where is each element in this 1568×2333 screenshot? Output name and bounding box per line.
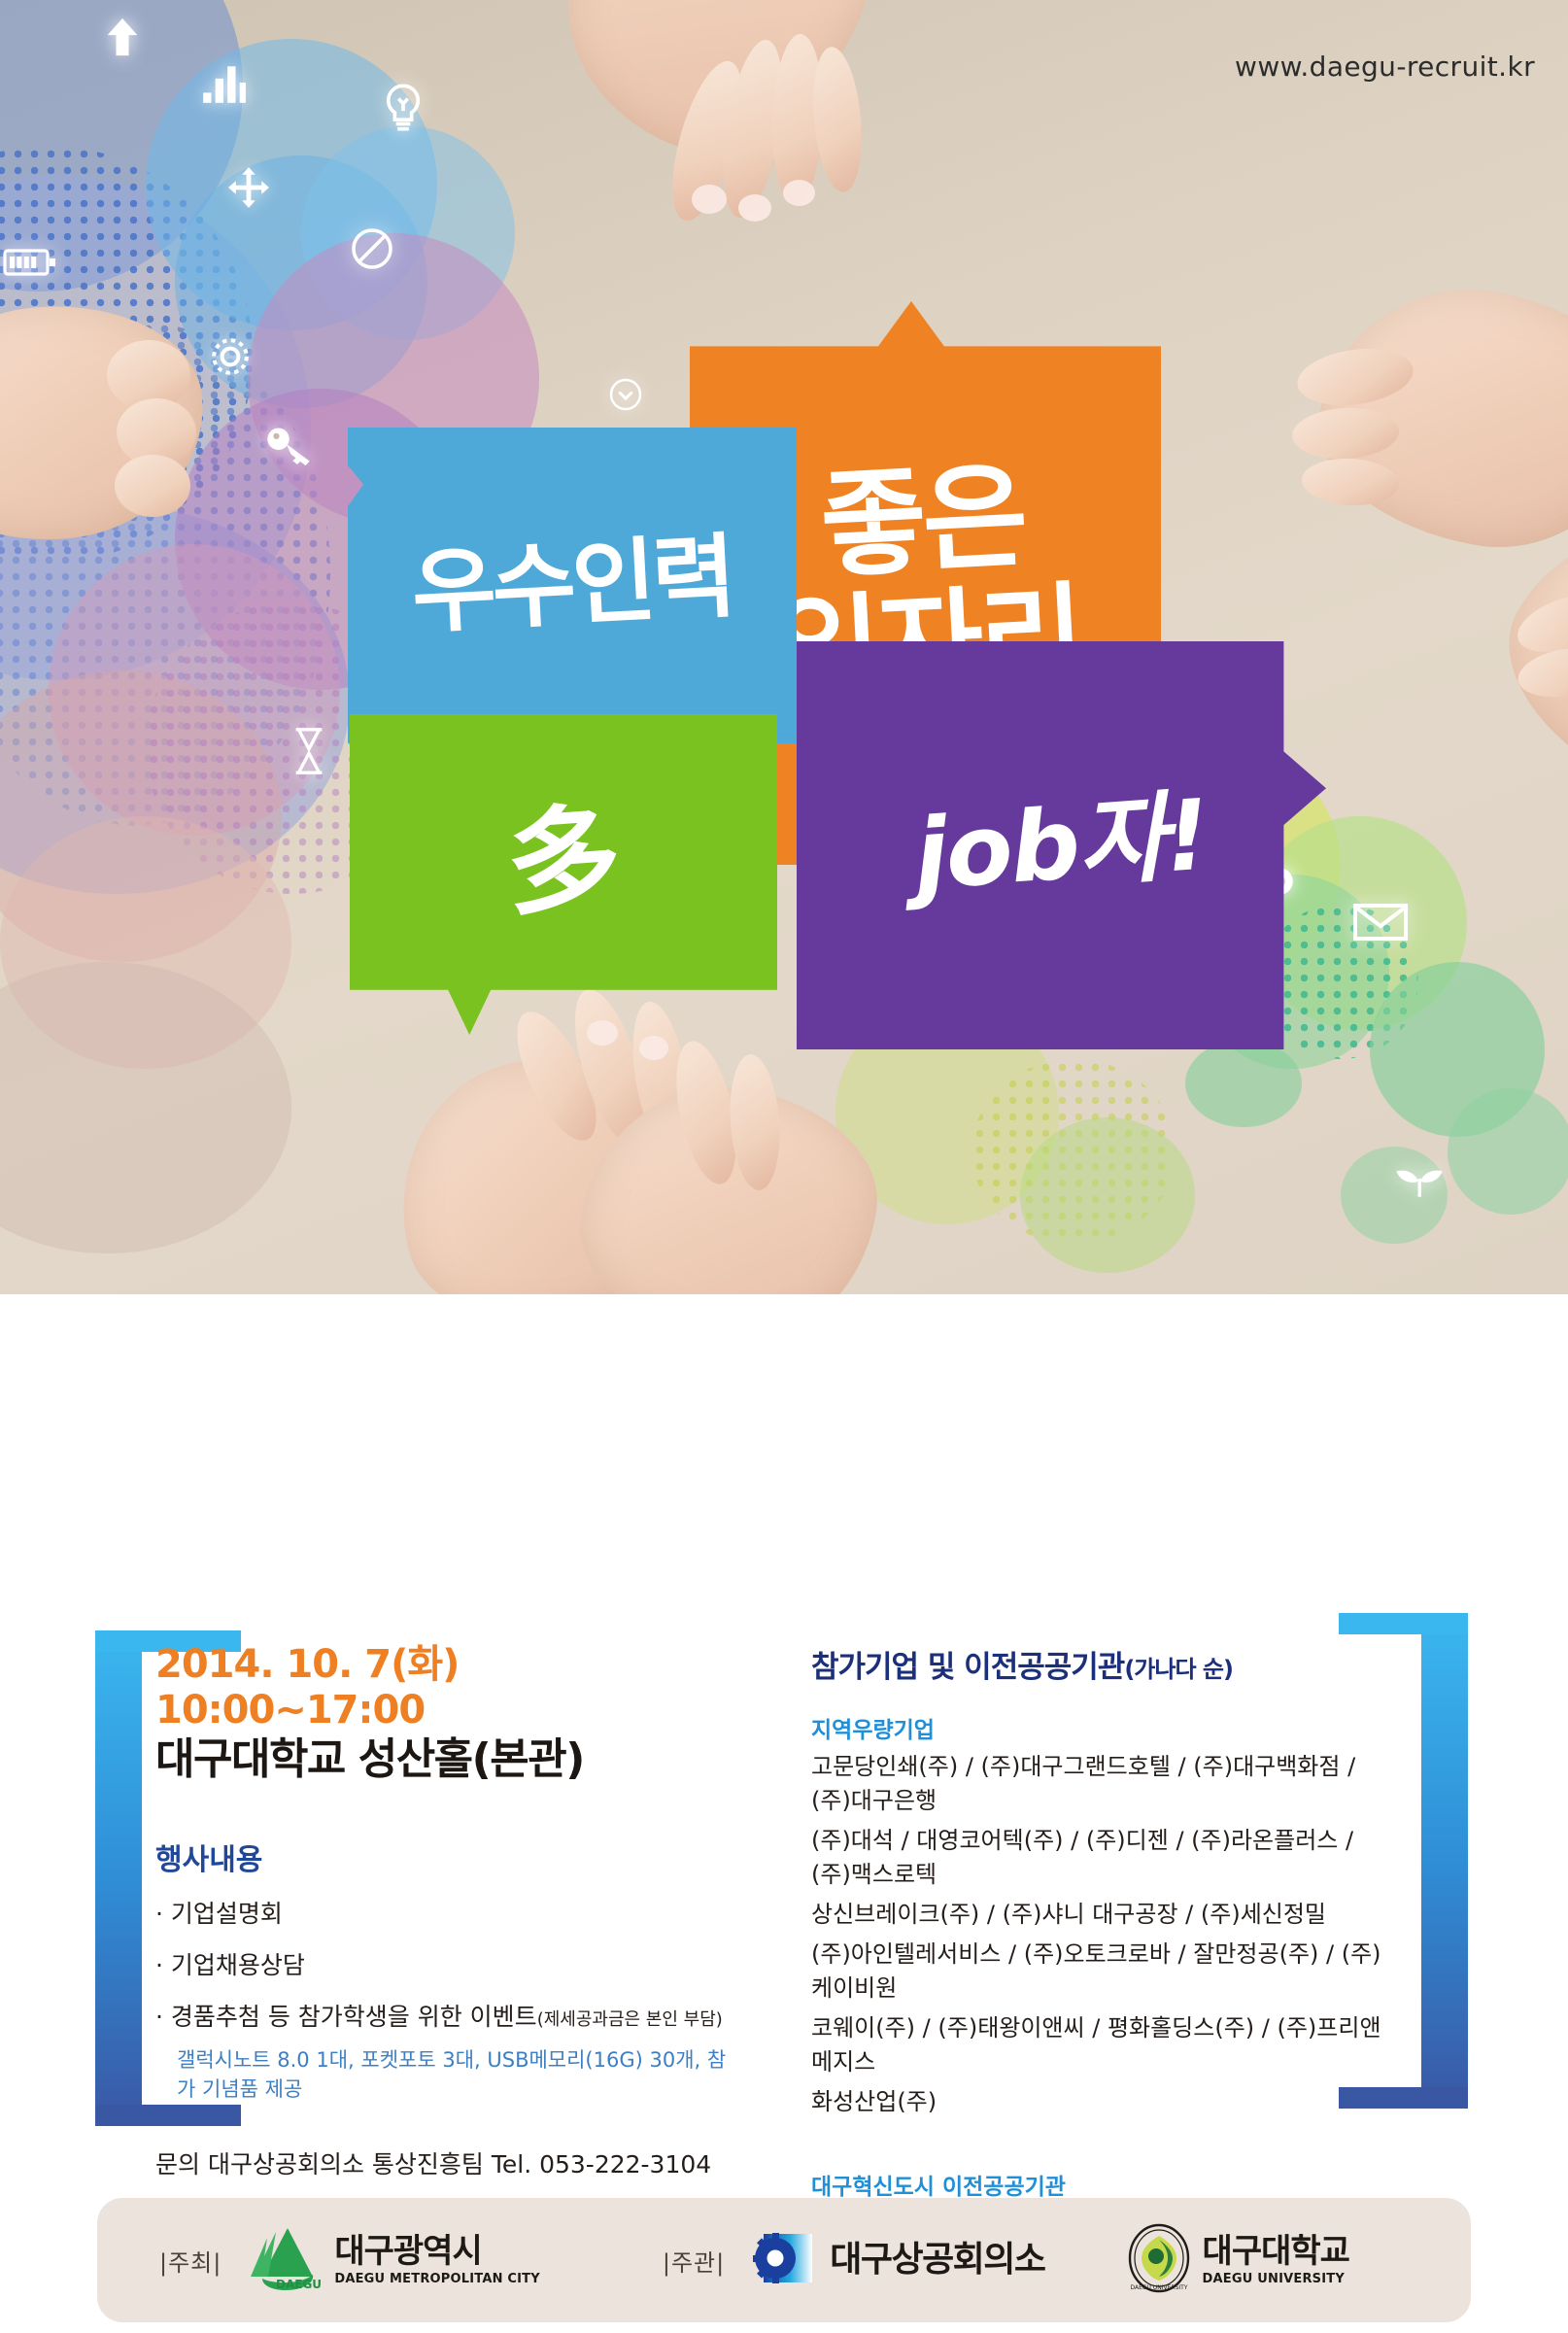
frame-bracket-right-top xyxy=(1339,1613,1468,1634)
companies-local-label: 지역우량기업 xyxy=(811,1711,1394,1744)
event-program-heading: 행사내용 xyxy=(155,1836,729,1878)
event-venue: 대구대학교 성산홀(본관) xyxy=(155,1735,729,1785)
website-url[interactable]: www.daegu-recruit.kr xyxy=(1235,51,1535,83)
daegu-city-name-ko: 대구광역시 xyxy=(334,2235,540,2268)
hand-nail xyxy=(587,1020,618,1046)
bubble-line-1: 좋은 xyxy=(767,452,1077,592)
daegu-univ-name: 대구대학교 DAEGU UNIVERSITY xyxy=(1203,2235,1349,2286)
hand-nail xyxy=(738,194,771,222)
bubble-text-excellent-talent: 우수인력 xyxy=(410,532,734,639)
hand-nail xyxy=(783,180,815,206)
event-program-item-text: · 기업채용상담 xyxy=(155,1951,305,1979)
company-row: 화성산업(주) xyxy=(811,2085,1394,2119)
lightbulb-icon xyxy=(374,78,432,140)
companies-heading: 참가기업 및 이전공공기관(가나다 순) xyxy=(811,1642,1394,1686)
event-contact: 문의 대구상공회의소 통상진흥팀 Tel. 053-222-3104 xyxy=(155,2145,729,2180)
decor-blob xyxy=(1448,1088,1568,1215)
event-info-column: 2014. 10. 7(화) 10:00~17:00 대구대학교 성산홀(본관)… xyxy=(155,1642,729,2180)
company-row: 상신브레이크(주) / (주)샤니 대구공장 / (주)세신정밀 xyxy=(811,1898,1394,1932)
key-icon xyxy=(260,418,321,472)
event-program-item-note: (제세공과금은 본인 부담) xyxy=(537,2009,723,2030)
event-program-item: · 기업채용상담 xyxy=(155,1946,729,1981)
host-group: |주최| DAEGU 대구광역시 DAEGU METROPOLITAN CITY xyxy=(146,2222,540,2299)
companies-heading-text: 참가기업 및 이전공공기관 xyxy=(811,1650,1124,1685)
dcci-name: 대구상공회의소 xyxy=(830,2243,1044,2278)
event-program-item-text: · 기업설명회 xyxy=(155,1900,283,1928)
poster-root: 좋은 일자리 우수인력 job자! 多 www.daegu-recruit.kr… xyxy=(0,0,1568,2333)
company-row: (주)아인텔레서비스 / (주)오토크로바 / 잘만정공(주) / (주)케이비… xyxy=(811,1938,1394,2006)
speech-bubble-excellent-talent: 우수인력 xyxy=(348,428,797,743)
decor-blob xyxy=(1020,1117,1195,1273)
frame-bracket-right xyxy=(1421,1613,1468,2109)
svg-text:DAEGU: DAEGU xyxy=(276,2278,322,2291)
event-gift-list: 갤럭시노트 8.0 1대, 포켓포토 3대, USB메모리(16G) 30개, … xyxy=(177,2044,729,2103)
up-arrow-icon xyxy=(95,10,150,64)
event-program-item-text: · 경품추첨 등 참가학생을 위한 이벤트 xyxy=(155,2003,537,2031)
chevron-down-icon xyxy=(602,371,649,418)
daegu-univ-seal-icon: DAEGU UNIVERSITY xyxy=(1127,2223,1191,2298)
no-entry-icon xyxy=(345,222,399,276)
footer-sponsor-bar: |주최| DAEGU 대구광역시 DAEGU METROPOLITAN CITY… xyxy=(97,2198,1471,2322)
companies-public-label: 대구혁신도시 이전공공기관 xyxy=(811,2168,1394,2201)
daegu-univ-name-ko: 대구대학교 xyxy=(1203,2235,1349,2268)
hand-nail xyxy=(639,1036,668,1060)
bar-chart-icon xyxy=(194,53,253,112)
hand-nail xyxy=(692,185,727,214)
hero-photo: 좋은 일자리 우수인력 job자! 多 www.daegu-recruit.kr xyxy=(0,0,1568,1294)
companies-heading-note: (가나다 순) xyxy=(1124,1656,1233,1683)
participating-companies-column: 참가기업 및 이전공공기관(가나다 순) 지역우량기업 고문당인쇄(주) / (… xyxy=(811,1642,1394,2241)
daegu-city-name: 대구광역시 DAEGU METROPOLITAN CITY xyxy=(334,2235,540,2286)
company-row: 고문당인쇄(주) / (주)대구그랜드호텔 / (주)대구백화점 / (주)대구… xyxy=(811,1750,1394,1818)
hand-finger xyxy=(808,45,868,194)
organizer-group: |주관| xyxy=(649,2226,1045,2295)
bubble-text-jobja: job자! xyxy=(911,787,1210,905)
event-program-item: · 경품추첨 등 참가학생을 위한 이벤트(제세공과금은 본인 부담) xyxy=(155,1998,729,2033)
hourglass-icon xyxy=(282,721,336,781)
frame-bracket-left xyxy=(95,1630,142,2126)
organizer-label: |주관| xyxy=(663,2244,725,2278)
company-row: (주)대석 / 대영코어텍(주) / (주)디젠 / (주)라온플러스 / (주… xyxy=(811,1824,1394,1892)
daegu-city-mark-icon: DAEGU xyxy=(247,2222,323,2299)
daegu-city-name-en: DAEGU METROPOLITAN CITY xyxy=(334,2272,540,2286)
bubble-text-many: 多 xyxy=(502,800,625,922)
dcci-gear-mark-icon xyxy=(750,2226,818,2295)
speech-bubble-many: 多 xyxy=(350,714,777,1035)
daegu-univ-name-en: DAEGU UNIVERSITY xyxy=(1203,2272,1349,2286)
host-label: |주최| xyxy=(159,2244,222,2278)
company-row: 코웨이(주) / (주)태왕이앤씨 / 평화홀딩스(주) / (주)프리앤메지스 xyxy=(811,2011,1394,2079)
hand-knuckle xyxy=(115,455,190,517)
envelope-icon xyxy=(1350,899,1411,945)
event-program-item: · 기업설명회 xyxy=(155,1895,729,1930)
speech-bubble-jobja: job자! xyxy=(797,641,1326,1049)
svg-text:DAEGU UNIVERSITY: DAEGU UNIVERSITY xyxy=(1130,2284,1187,2291)
move-arrows-icon xyxy=(222,160,276,215)
decor-blob xyxy=(1185,1040,1302,1127)
university-group: DAEGU UNIVERSITY 대구대학교 DAEGU UNIVERSITY xyxy=(1115,2223,1349,2298)
event-datetime: 2014. 10. 7(화) 10:00~17:00 xyxy=(155,1642,729,1733)
title-lockup: 2014 대학 리 크 루 트 투어 xyxy=(0,1329,1568,1543)
leaf-icon xyxy=(1389,1151,1449,1206)
battery-icon xyxy=(0,243,60,282)
gear-icon xyxy=(199,326,261,388)
